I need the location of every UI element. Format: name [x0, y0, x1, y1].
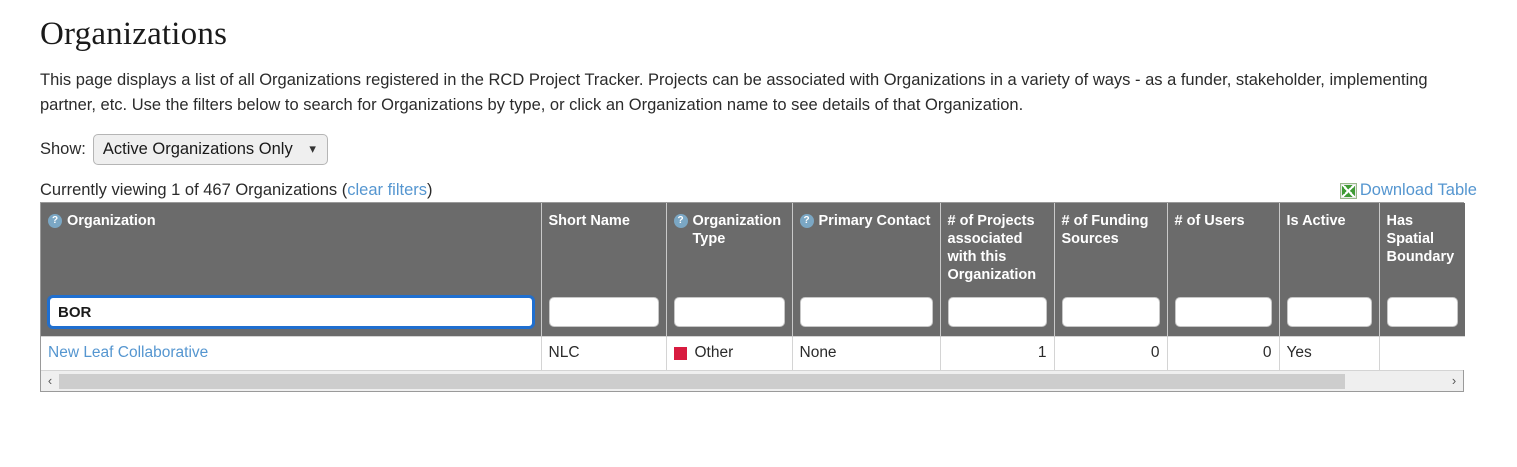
filter-cell-num-projects: [940, 292, 1054, 337]
filter-input-short-name[interactable]: [549, 297, 659, 327]
scrollbar-track[interactable]: [59, 374, 1445, 389]
column-header-label: Organization: [67, 212, 156, 230]
help-icon[interactable]: ?: [48, 214, 62, 228]
table-filter-row: [41, 292, 1465, 337]
show-filter-select-wrap[interactable]: Active Organizations Only ▾: [93, 134, 328, 165]
cell-primary-contact: None: [792, 337, 940, 371]
column-header-has-spatial-boundary[interactable]: Has Spatial Boundary: [1379, 203, 1465, 292]
download-table-label[interactable]: Download Table: [1360, 181, 1477, 200]
filter-select-has-spatial-boundary[interactable]: [1387, 297, 1459, 327]
show-filter-label: Show:: [40, 140, 86, 159]
column-header-num-projects[interactable]: # of Projects associated with this Organ…: [940, 203, 1054, 292]
cell-short-name: NLC: [541, 337, 666, 371]
column-header-label: # of Users: [1175, 212, 1245, 230]
organization-link[interactable]: New Leaf Collaborative: [48, 344, 208, 361]
viewing-count-suffix: ): [427, 181, 433, 199]
excel-icon: [1340, 183, 1357, 199]
filter-input-organization[interactable]: [48, 296, 534, 328]
horizontal-scrollbar[interactable]: ‹ ›: [41, 370, 1463, 391]
page-description: This page displays a list of all Organiz…: [40, 68, 1470, 118]
viewing-count-prefix: Currently viewing 1 of 467 Organizations…: [40, 181, 347, 199]
cell-organization-type: Other: [666, 337, 792, 371]
filter-cell-num-users: [1167, 292, 1279, 337]
page-title: Organizations: [40, 14, 1477, 54]
filter-cell-short-name: [541, 292, 666, 337]
filter-cell-primary-contact: [792, 292, 940, 337]
column-header-num-users[interactable]: # of Users: [1167, 203, 1279, 292]
cell-has-spatial-boundary: [1379, 337, 1465, 371]
viewing-count: Currently viewing 1 of 467 Organizations…: [40, 181, 433, 200]
organization-type-label: Other: [695, 344, 734, 362]
organizations-page: Organizations This page displays a list …: [0, 0, 1517, 392]
column-header-label: Primary Contact: [819, 212, 931, 230]
filter-select-primary-contact[interactable]: [800, 297, 933, 327]
download-table-link[interactable]: Download Table: [1340, 181, 1477, 200]
show-filter-row: Show: Active Organizations Only ▾: [40, 134, 1477, 165]
column-header-short-name[interactable]: Short Name: [541, 203, 666, 292]
filter-select-organization-type[interactable]: [674, 297, 785, 327]
scroll-right-arrow-icon[interactable]: ›: [1445, 372, 1463, 390]
scrollbar-thumb[interactable]: [59, 374, 1345, 389]
filter-cell-has-spatial-boundary: [1379, 292, 1465, 337]
table-meta-row: Currently viewing 1 of 467 Organizations…: [40, 181, 1477, 200]
column-header-label: Organization Type: [693, 212, 785, 248]
organizations-table: ? Organization Short Name ? Organization…: [40, 202, 1464, 392]
table-header-row: ? Organization Short Name ? Organization…: [41, 203, 1465, 292]
filter-input-num-projects[interactable]: [948, 297, 1047, 327]
filter-input-num-users[interactable]: [1175, 297, 1272, 327]
filter-cell-is-active: [1279, 292, 1379, 337]
cell-num-funding-sources: 0: [1054, 337, 1167, 371]
cell-num-users: 0: [1167, 337, 1279, 371]
filter-cell-num-funding-sources: [1054, 292, 1167, 337]
column-header-label: Is Active: [1287, 212, 1346, 230]
filter-input-num-funding-sources[interactable]: [1062, 297, 1160, 327]
filter-cell-organization-type: [666, 292, 792, 337]
scroll-left-arrow-icon[interactable]: ‹: [41, 372, 59, 390]
filter-cell-organization: [41, 292, 541, 337]
column-header-label: # of Funding Sources: [1062, 212, 1160, 248]
cell-is-active: Yes: [1279, 337, 1379, 371]
cell-organization: New Leaf Collaborative: [41, 337, 541, 371]
column-header-primary-contact[interactable]: ? Primary Contact: [792, 203, 940, 292]
cell-num-projects: 1: [940, 337, 1054, 371]
column-header-num-funding-sources[interactable]: # of Funding Sources: [1054, 203, 1167, 292]
column-header-label: Has Spatial Boundary: [1387, 212, 1459, 266]
column-header-is-active[interactable]: Is Active: [1279, 203, 1379, 292]
organization-type-color-swatch: [674, 347, 687, 360]
table-row: New Leaf Collaborative NLC Other None 1 …: [41, 337, 1465, 371]
column-header-organization-type[interactable]: ? Organization Type: [666, 203, 792, 292]
column-header-label: # of Projects associated with this Organ…: [948, 212, 1047, 284]
help-icon[interactable]: ?: [800, 214, 814, 228]
help-icon[interactable]: ?: [674, 214, 688, 228]
clear-filters-link[interactable]: clear filters: [347, 181, 427, 199]
show-filter-select[interactable]: Active Organizations Only: [93, 134, 328, 165]
filter-select-is-active[interactable]: [1287, 297, 1372, 327]
column-header-label: Short Name: [549, 212, 630, 230]
column-header-organization[interactable]: ? Organization: [41, 203, 541, 292]
